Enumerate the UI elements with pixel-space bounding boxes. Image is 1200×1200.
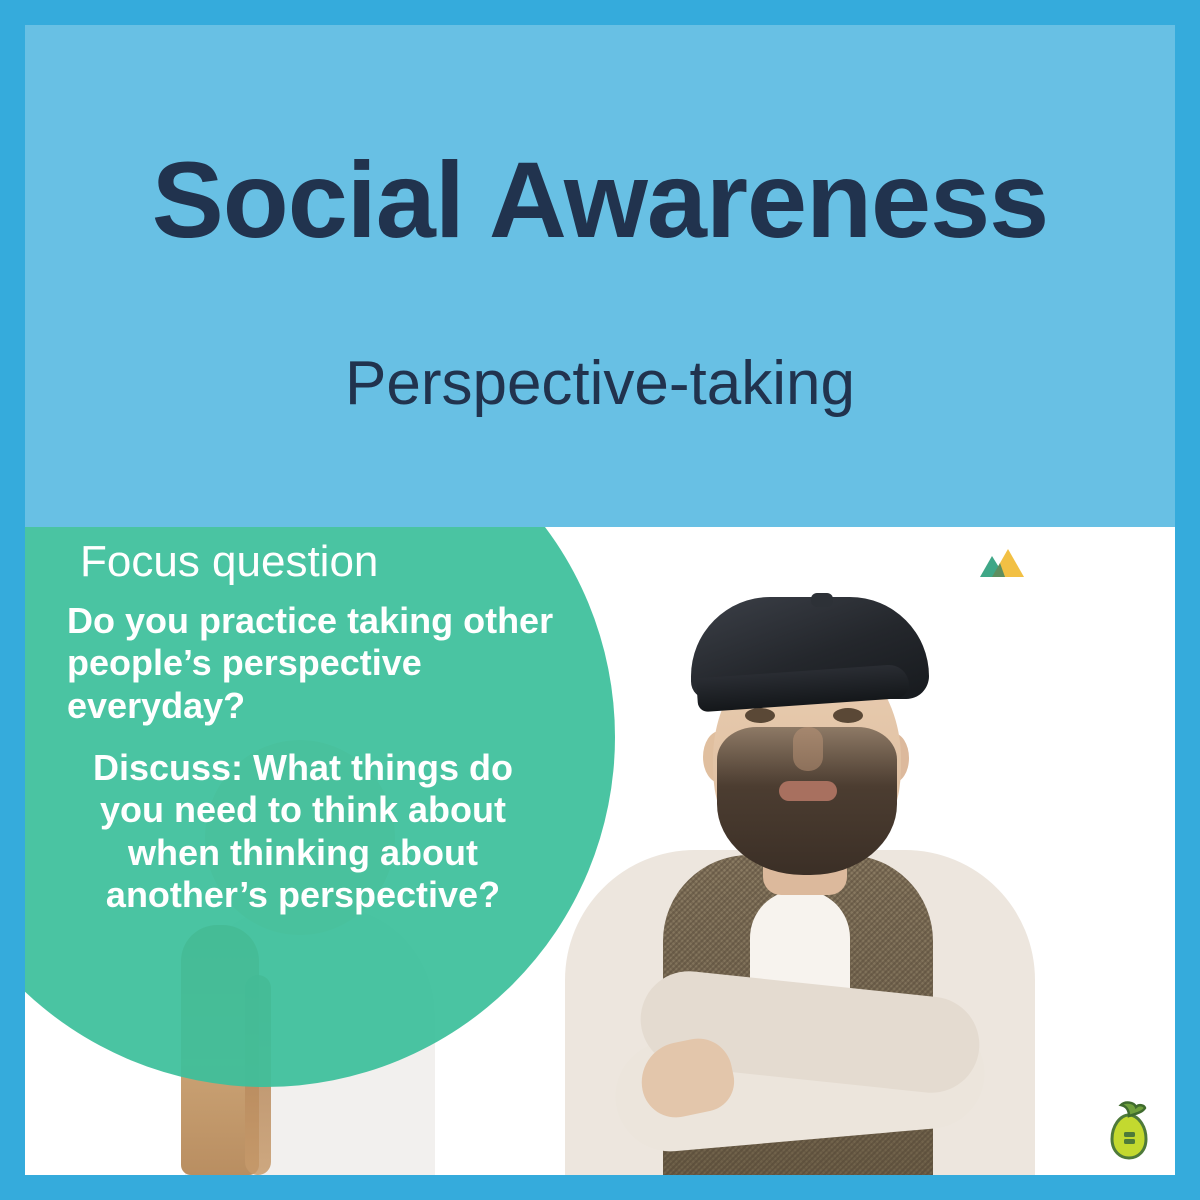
page-subtitle: Perspective-taking (25, 350, 1175, 418)
person-cap-button (811, 593, 833, 607)
pear-logo-icon (1105, 1099, 1153, 1161)
content-panel: Focus question Do you practice taking ot… (25, 527, 1175, 1175)
person-nose (793, 727, 823, 771)
focus-question-primary: Do you practice taking other people’s pe… (45, 600, 565, 727)
foreground-person-figure (545, 575, 1055, 1175)
focus-question-label: Focus question (45, 537, 565, 588)
focus-question-block: Focus question Do you practice taking ot… (45, 537, 565, 917)
person-eye-right (833, 708, 863, 723)
page-title: Social Awareness (25, 143, 1175, 256)
slide-canvas: Social Awareness Perspective-taking (0, 0, 1200, 1200)
person-eye-left (745, 708, 775, 723)
focus-question-discuss: Discuss: What things do you need to thin… (45, 747, 565, 917)
mountains-logo-icon (980, 545, 1024, 579)
person-mouth (779, 781, 837, 801)
slide-header: Social Awareness Perspective-taking (25, 25, 1175, 527)
